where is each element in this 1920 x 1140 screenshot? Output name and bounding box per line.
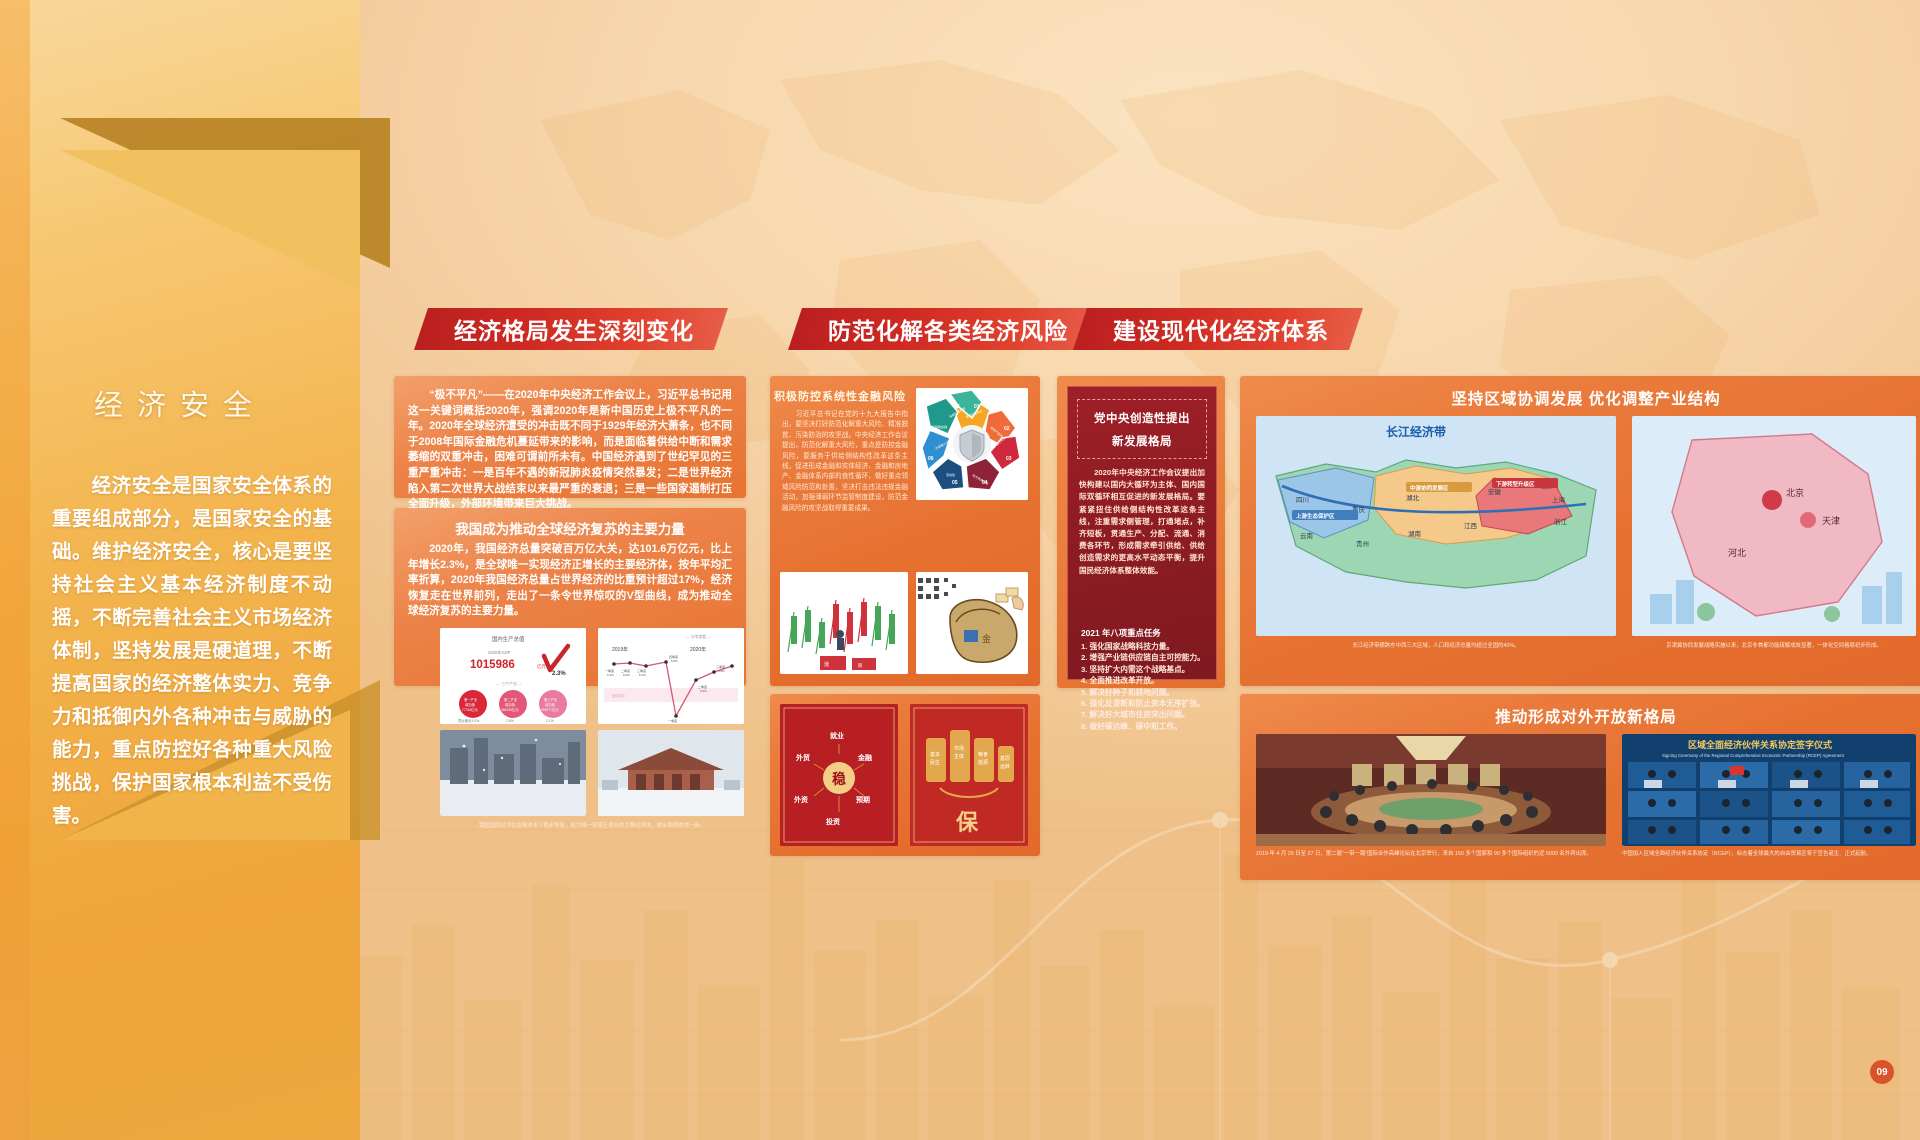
task-item: 2. 增强产业链供应链自主可控能力。 — [1081, 652, 1207, 663]
svg-text:第二产业: 第二产业 — [504, 697, 518, 702]
regional-heading: 坚持区域协调发展 优化调整产业结构 — [1240, 387, 1920, 409]
svg-text:能源: 能源 — [978, 759, 988, 766]
section-intro: 经济安全是国家安全体系的重要组成部分，是国家安全的基础。维护经济安全，核心是要坚… — [52, 470, 332, 833]
photo-traditional-architecture — [598, 730, 744, 816]
deep-red-panel: 党中央创造性提出 新发展格局 2020年中央经济工作会议提出加快构建以国内大循环… — [1067, 386, 1217, 680]
task-item: 8. 做好碳达峰、碳中和工作。 — [1081, 721, 1207, 732]
svg-text:— 分季度看 —: — 分季度看 — — [686, 634, 711, 639]
recovery-subheading: 我国成为推动全球经济复苏的主要力量 — [394, 518, 746, 538]
caption-rcep: 中国加入区域全面经济伙伴关系协定（RCEP），标志着全球最大的自由贸易区将于宣告… — [1622, 850, 1916, 858]
svg-text:北京: 北京 — [1786, 487, 1804, 498]
svg-text:05: 05 — [952, 480, 958, 486]
poster-six-stabilities: 稳 就业金融 外贸外资 投资预期 — [780, 704, 898, 846]
svg-text:一季度: 一季度 — [668, 718, 677, 723]
svg-text:流动性: 流动性 — [946, 472, 955, 477]
photo-belt-and-road-forum — [1256, 734, 1606, 846]
svg-text:增加值: 增加值 — [545, 702, 556, 707]
svg-text:四川: 四川 — [1296, 496, 1309, 504]
svg-text:浙江: 浙江 — [1554, 517, 1568, 526]
svg-text:6.0%: 6.0% — [623, 673, 630, 677]
financial-risk-paragraph: 习近平总书记在党的十九大报告中指出，要坚决打好防范化解重大风险、精准脱贫、污染防… — [782, 410, 908, 514]
svg-text:区域全面经济伙伴关系协定签字仪式: 区域全面经济伙伴关系协定签字仪式 — [1688, 739, 1832, 750]
opening-up-heading: 推动形成对外开放新格局 — [1240, 705, 1920, 727]
svg-text:下游转型升级区: 下游转型升级区 — [1496, 480, 1535, 488]
svg-text:基层: 基层 — [1000, 755, 1010, 762]
task-item: 3. 坚持扩大内需这个战略基点。 — [1081, 664, 1207, 675]
svg-text:就业: 就业 — [830, 731, 844, 740]
map-yangtze-economic-belt: 长江经济带 四川重庆云南 贵州湖北湖南 江西安徽江苏 浙江上海 下游转型升级区 … — [1256, 416, 1616, 636]
svg-text:安徽: 安徽 — [1488, 487, 1502, 496]
svg-text:553977亿元: 553977亿元 — [541, 707, 559, 712]
svg-text:5.8%: 5.8% — [671, 659, 678, 663]
svg-text:同比增长3.0%: 同比增长3.0% — [458, 718, 479, 723]
task-item: 4. 全面推进改革开放。 — [1081, 675, 1207, 686]
banner-label: 防范化解各类经济风险 — [828, 312, 1068, 346]
svg-text:运转: 运转 — [1000, 763, 1010, 770]
svg-text:上游生态保护区: 上游生态保护区 — [1296, 512, 1335, 520]
deep-title-box: 党中央创造性提出 新发展格局 — [1077, 399, 1207, 459]
paragraph-one-text: “极不平凡”——在2020年中央经济工作会议上，习近平总书记用这一关键词概括20… — [408, 389, 732, 510]
svg-text:江西: 江西 — [1464, 522, 1478, 530]
deep-title-line2: 新发展格局 — [1112, 433, 1172, 449]
deep-paragraph-text: 2020年中央经济工作会议提出加快构建以国内大循环为主体、国内国际双循环相互促进… — [1079, 468, 1205, 575]
card-paragraph-one: “极不平凡”——在2020年中央经济工作会议上，习近平总书记用这一关键词概括20… — [394, 376, 746, 498]
svg-text:06: 06 — [928, 456, 934, 462]
deep-title-line1: 党中央创造性提出 — [1094, 410, 1190, 426]
svg-text:国内生产总值: 国内生产总值 — [492, 635, 525, 643]
svg-text:第一产业: 第一产业 — [464, 697, 478, 702]
svg-text:市场: 市场 — [954, 745, 964, 752]
svg-text:云南: 云南 — [1300, 531, 1314, 540]
poster-page: 经济安全 经济安全是国家安全体系的重要组成部分，是国家安全的基础。维护经济安全，… — [0, 0, 1920, 1140]
svg-text:民生: 民生 — [930, 759, 940, 766]
photo-caption-column1: 我国国民经济在疫情冲击下稳步恢复，成为唯一实现正增长的主要经济体，城乡面貌焕然一… — [440, 822, 744, 830]
svg-text:2019年: 2019年 — [612, 646, 628, 653]
svg-text:4.9%: 4.9% — [718, 669, 725, 673]
svg-text:第三产业: 第三产业 — [544, 697, 558, 702]
svg-text:— 三产产业 —: — 三产产业 — — [496, 680, 522, 686]
photo-rcep-signing: 区域全面经济伙伴关系协定签字仪式 Signing Ceremony of the… — [1622, 734, 1916, 846]
svg-text:贵州: 贵州 — [1356, 539, 1369, 548]
tasks-heading: 2021 年八项重点任务 — [1081, 627, 1161, 639]
section-title: 经济安全 — [0, 382, 360, 424]
photo-money-bag-cartoon: 金 — [916, 572, 1028, 674]
svg-text:亿元: 亿元 — [537, 663, 546, 670]
paragraph-one: “极不平凡”——在2020年中央经济工作会议上，习近平总书记用这一关键词概括20… — [408, 388, 732, 513]
banner-modern-economy: 建设现代化经济体系 — [1073, 308, 1363, 350]
card-financial-risk: 积极防控系统性金融风险 习近平总书记在党的十九大报告中指出，要坚决打好防范化解重… — [770, 376, 1040, 686]
decor-triangle-light — [60, 150, 360, 290]
svg-text:2020年: 2020年 — [690, 646, 706, 653]
financial-risk-subheading: 积极防控系统性金融风险 — [770, 388, 910, 404]
map-jingjinji: 北京天津河北 — [1632, 416, 1916, 636]
svg-text:金融: 金融 — [857, 753, 872, 762]
photo-market-chart: 涨 跌 — [780, 572, 908, 674]
svg-text:长江经济带: 长江经济带 — [1386, 424, 1446, 439]
diagram-risk-wheel: 010203 040506 0708 金融监管体系 房地产风险 影子银行风险 地… — [916, 388, 1028, 500]
banner-label: 建设现代化经济体系 — [1113, 312, 1329, 346]
banner-risk-prevention: 防范化解各类经济风险 — [788, 308, 1102, 350]
svg-text:跌: 跌 — [858, 662, 863, 669]
task-item: 7. 解决好大城市住房突出问题。 — [1081, 709, 1207, 720]
caption-jingjinji: 京津冀协同发展战略实施以来，北京非首都功能疏解成效显著，一体化空间格局初步形成。 — [1632, 642, 1916, 650]
svg-text:疫情影响: 疫情影响 — [612, 693, 625, 698]
paragraph-two: 2020年，我国经济总量突破百万亿大关，达101.6万亿元，比上年增长2.3%，… — [408, 542, 732, 620]
svg-text:2020年GDP: 2020年GDP — [488, 649, 511, 656]
svg-text:Signing Ceremony of the Region: Signing Ceremony of the Regional Compreh… — [1662, 753, 1845, 758]
task-item: 5. 解决好种子和耕地问题。 — [1081, 687, 1207, 698]
card-opening-up: 推动形成对外开放新格局 — [1240, 694, 1920, 880]
svg-text:天津: 天津 — [1822, 516, 1840, 526]
svg-text:2.6%: 2.6% — [506, 719, 514, 723]
svg-text:基本: 基本 — [930, 751, 940, 758]
svg-text:2.3%: 2.3% — [552, 671, 566, 677]
svg-text:涨: 涨 — [824, 661, 829, 668]
chart-gdp-total: 国内生产总值 2020年GDP 1015986 亿元 2.3% — 三产产业 —… — [440, 628, 586, 724]
svg-text:77754亿元: 77754亿元 — [462, 707, 478, 712]
poster-six-guarantees: 基本民生 市场主体 粮食能源 基层运转 保 — [910, 704, 1028, 846]
section-intro-text: 经济安全是国家安全体系的重要组成部分，是国家安全的基础。维护经济安全，核心是要坚… — [52, 475, 332, 827]
svg-text:5.2%: 5.2% — [639, 673, 646, 677]
paragraph-two-text: 2020年，我国经济总量突破百万亿大关，达101.6万亿元，比上年增长2.3%，… — [408, 543, 732, 617]
financial-risk-text: 习近平总书记在党的十九大报告中指出，要坚决打好防范化解重大风险、精准脱贫、污染防… — [782, 411, 908, 512]
svg-text:外贸: 外贸 — [796, 753, 810, 762]
caption-yangtze: 长江经济带横跨东中西三大区域，人口和经济总量均超过全国的40%。 — [1256, 642, 1616, 650]
chart-quarterly-growth: — 分季度看 — 2019年 2020年 疫情影响 一季度6.3% 二季度6.0… — [598, 628, 744, 724]
svg-text:384255亿元: 384255亿元 — [501, 707, 519, 712]
svg-text:预期: 预期 — [856, 795, 870, 804]
svg-text:河北: 河北 — [1728, 547, 1746, 558]
svg-text:互联网金融: 互联网金融 — [932, 424, 947, 429]
page-number: 09 — [1870, 1060, 1894, 1084]
svg-text:金: 金 — [982, 633, 991, 644]
card-new-development-pattern: 党中央创造性提出 新发展格局 2020年中央经济工作会议提出加快构建以国内大循环… — [1057, 376, 1225, 688]
svg-text:外资: 外资 — [794, 795, 808, 804]
banner-economic-pattern: 经济格局发生深刻变化 — [414, 308, 728, 350]
banner-label: 经济格局发生深刻变化 — [454, 312, 694, 346]
svg-text:中游协同发展区: 中游协同发展区 — [1410, 484, 1449, 492]
task-item: 6. 强化反垄断和防止资本无序扩张。 — [1081, 698, 1207, 709]
svg-text:增加值: 增加值 — [465, 702, 476, 707]
svg-text:1015986: 1015986 — [470, 659, 515, 671]
svg-text:投资: 投资 — [826, 817, 840, 826]
tasks-list: 1. 强化国家战略科技力量。 2. 增强产业链供应链自主可控能力。 3. 坚持扩… — [1081, 641, 1207, 732]
svg-text:粮食: 粮食 — [978, 751, 988, 758]
card-six-stabilities: 稳 就业金融 外贸外资 投资预期 — [770, 694, 1040, 856]
svg-text:湖南: 湖南 — [1408, 529, 1422, 538]
card-regional-development: 坚持区域协调发展 优化调整产业结构 长江经济带 四川重庆云南 贵州湖北湖南 江西… — [1240, 376, 1920, 686]
svg-text:6.3%: 6.3% — [607, 673, 614, 677]
svg-text:保: 保 — [955, 810, 979, 835]
svg-text:稳: 稳 — [832, 771, 846, 787]
svg-text:增加值: 增加值 — [505, 702, 516, 707]
svg-text:2.1%: 2.1% — [546, 719, 554, 723]
deep-paragraph: 2020年中央经济工作会议提出加快构建以国内大循环为主体、国内国际双循环相互促进… — [1079, 467, 1205, 577]
svg-text:主体: 主体 — [954, 753, 964, 760]
svg-text:3.2%: 3.2% — [700, 689, 707, 693]
photo-winter-city — [440, 730, 586, 816]
task-item: 1. 强化国家战略科技力量。 — [1081, 641, 1207, 652]
caption-belt-and-road: 2019 年 4 月 25 日至 27 日，第二届“一带一路”国际合作高峰论坛在… — [1256, 850, 1606, 858]
svg-text:上海: 上海 — [1552, 495, 1566, 504]
svg-text:02: 02 — [1004, 426, 1010, 432]
svg-text:03: 03 — [1006, 456, 1012, 462]
svg-text:湖北: 湖北 — [1406, 493, 1420, 502]
